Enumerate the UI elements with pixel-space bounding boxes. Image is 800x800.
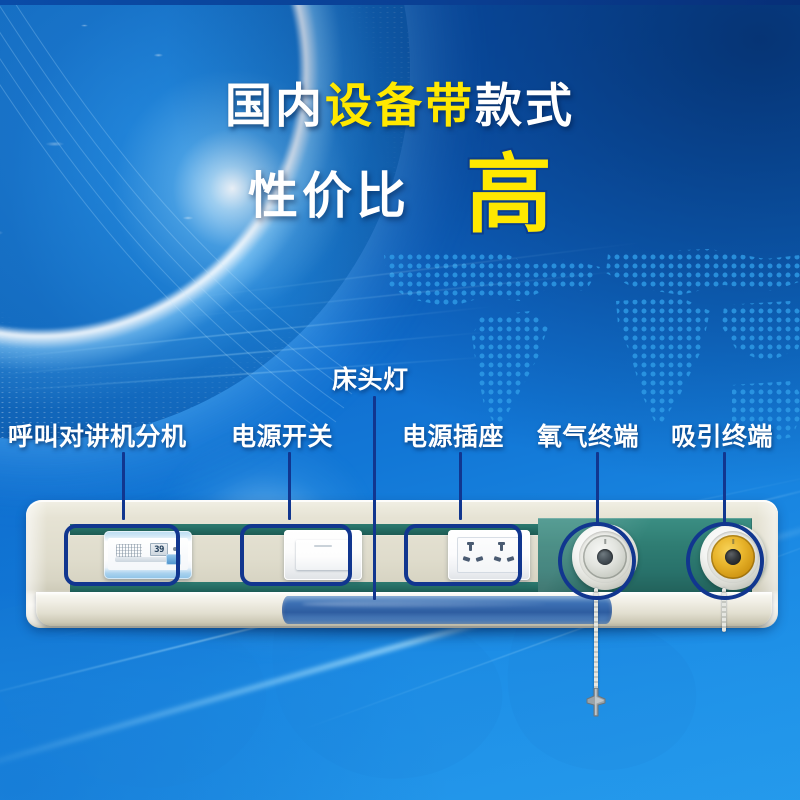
promo-banner: 国内设备带款式 性价比 高 呼叫对讲机分机 电源开关 床头灯 电源插座 氧气终端… <box>0 0 800 800</box>
callout-label-power-socket: 电源插座 <box>402 417 504 453</box>
callout-label-bed-lamp: 床头灯 <box>332 360 409 396</box>
leader-line-oxygen <box>596 452 599 526</box>
callout-label-power-switch: 电源开关 <box>231 417 333 453</box>
callout-label-oxygen: 氧气终端 <box>537 417 639 453</box>
leader-line-bed-lamp <box>373 396 376 600</box>
leader-line-intercom <box>122 452 125 520</box>
callout-label-intercom: 呼叫对讲机分机 <box>8 417 187 453</box>
leader-line-power-switch <box>288 452 291 520</box>
leader-line-suction <box>723 452 726 526</box>
leader-line-power-socket <box>459 452 462 520</box>
callout-layer: 呼叫对讲机分机 电源开关 床头灯 电源插座 氧气终端 吸引终端 <box>0 0 800 800</box>
callout-label-suction: 吸引终端 <box>671 417 773 453</box>
